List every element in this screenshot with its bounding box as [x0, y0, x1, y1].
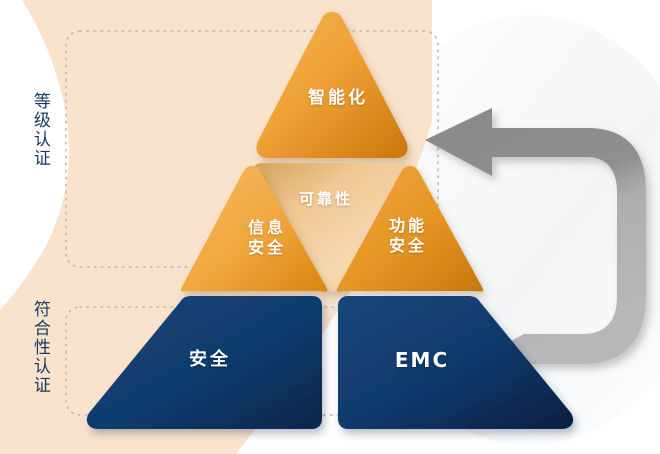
side-label-level-certification: 等级认证	[30, 92, 48, 168]
shape-safety[interactable]	[87, 296, 322, 429]
diagram-canvas: 等级认证 符合性认证 智能化 可靠性 信息 安全 功能 安全 安全 EMC	[0, 0, 660, 454]
side-label-conformity-certification: 符合性认证	[30, 300, 48, 395]
shapes-layer	[0, 0, 660, 454]
shape-intelligent[interactable]	[256, 12, 407, 158]
